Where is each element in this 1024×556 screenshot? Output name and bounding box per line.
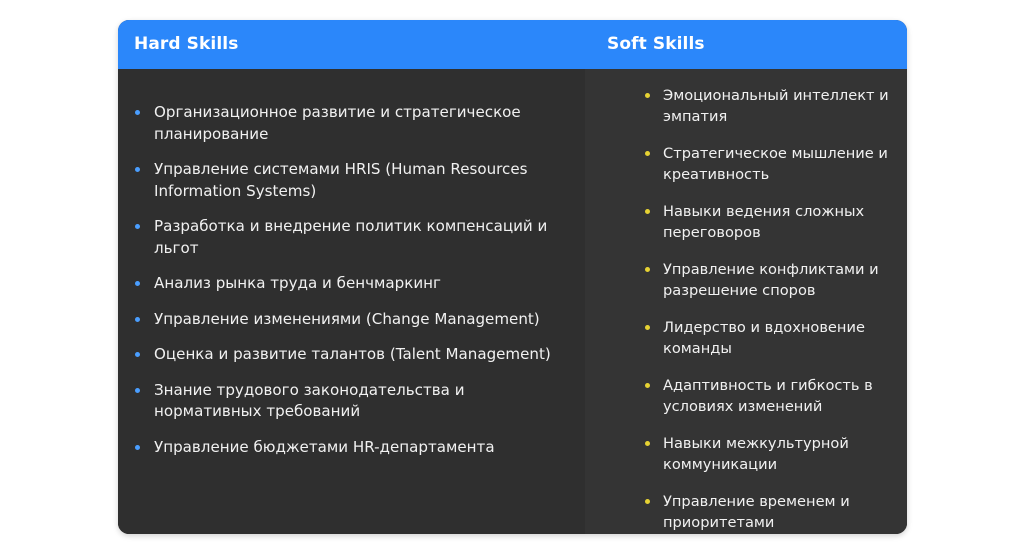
list-item-label: Знание трудового законодательства и норм… (154, 380, 571, 423)
bullet-icon (135, 445, 140, 450)
list-item: Лидерство и вдохновение команды (643, 317, 889, 359)
hard-skills-title: Hard Skills (134, 36, 238, 53)
bullet-icon (135, 167, 140, 172)
bullet-icon (645, 93, 650, 98)
bullet-icon (645, 151, 650, 156)
bullet-icon (135, 281, 140, 286)
soft-skills-column: Эмоциональный интеллект и эмпатияСтратег… (585, 69, 907, 534)
list-item: Управление временем и приоритетами (643, 491, 889, 533)
list-item: Стратегическое мышление и креативность (643, 143, 889, 185)
bullet-icon (135, 388, 140, 393)
list-item-label: Организационное развитие и стратегическо… (154, 102, 571, 145)
list-item: Адаптивность и гибкость в условиях измен… (643, 375, 889, 417)
bullet-icon (135, 110, 140, 115)
list-item: Знание трудового законодательства и норм… (133, 380, 571, 423)
column-header-hard-skills: Hard Skills (118, 20, 585, 69)
list-item: Оценка и развитие талантов (Talent Manag… (133, 344, 571, 366)
list-item-label: Оценка и развитие талантов (Talent Manag… (154, 344, 571, 366)
list-item: Управление бюджетами HR-департамента (133, 437, 571, 459)
list-item-label: Стратегическое мышление и креативность (663, 143, 889, 185)
list-item: Управление системами HRIS (Human Resourc… (133, 159, 571, 202)
list-item: Анализ рынка труда и бенчмаркинг (133, 273, 571, 295)
list-item-label: Навыки ведения сложных переговоров (663, 201, 889, 243)
list-item-label: Лидерство и вдохновение команды (663, 317, 889, 359)
list-item-label: Управление изменениями (Change Managemen… (154, 309, 571, 331)
list-item: Навыки межкультурной коммуникации (643, 433, 889, 475)
list-item-label: Управление конфликтами и разрешение спор… (663, 259, 889, 301)
column-header-soft-skills: Soft Skills (585, 20, 907, 69)
bullet-icon (645, 209, 650, 214)
list-item-label: Анализ рынка труда и бенчмаркинг (154, 273, 571, 295)
bullet-icon (645, 441, 650, 446)
skills-comparison-card: Hard Skills Soft Skills Организационное … (118, 20, 907, 534)
bullet-icon (135, 352, 140, 357)
list-item-label: Управление временем и приоритетами (663, 491, 889, 533)
bullet-icon (645, 383, 650, 388)
bullet-icon (645, 267, 650, 272)
hard-skills-list: Организационное развитие и стратегическо… (133, 102, 571, 458)
bullet-icon (135, 317, 140, 322)
list-item: Управление изменениями (Change Managemen… (133, 309, 571, 331)
list-item-label: Разработка и внедрение политик компенсац… (154, 216, 571, 259)
bullet-icon (645, 325, 650, 330)
soft-skills-list: Эмоциональный интеллект и эмпатияСтратег… (643, 85, 889, 533)
hard-skills-column: Организационное развитие и стратегическо… (118, 69, 585, 534)
list-item-label: Навыки межкультурной коммуникации (663, 433, 889, 475)
card-body-row: Организационное развитие и стратегическо… (118, 69, 907, 534)
list-item: Навыки ведения сложных переговоров (643, 201, 889, 243)
list-item-label: Управление системами HRIS (Human Resourc… (154, 159, 571, 202)
list-item: Управление конфликтами и разрешение спор… (643, 259, 889, 301)
page-root: Hard Skills Soft Skills Организационное … (0, 0, 1024, 556)
list-item-label: Эмоциональный интеллект и эмпатия (663, 85, 889, 127)
list-item-label: Управление бюджетами HR-департамента (154, 437, 571, 459)
bullet-icon (645, 499, 650, 504)
bullet-icon (135, 224, 140, 229)
list-item-label: Адаптивность и гибкость в условиях измен… (663, 375, 889, 417)
list-item: Разработка и внедрение политик компенсац… (133, 216, 571, 259)
list-item: Эмоциональный интеллект и эмпатия (643, 85, 889, 127)
card-header-row: Hard Skills Soft Skills (118, 20, 907, 69)
soft-skills-title: Soft Skills (607, 36, 705, 53)
list-item: Организационное развитие и стратегическо… (133, 102, 571, 145)
